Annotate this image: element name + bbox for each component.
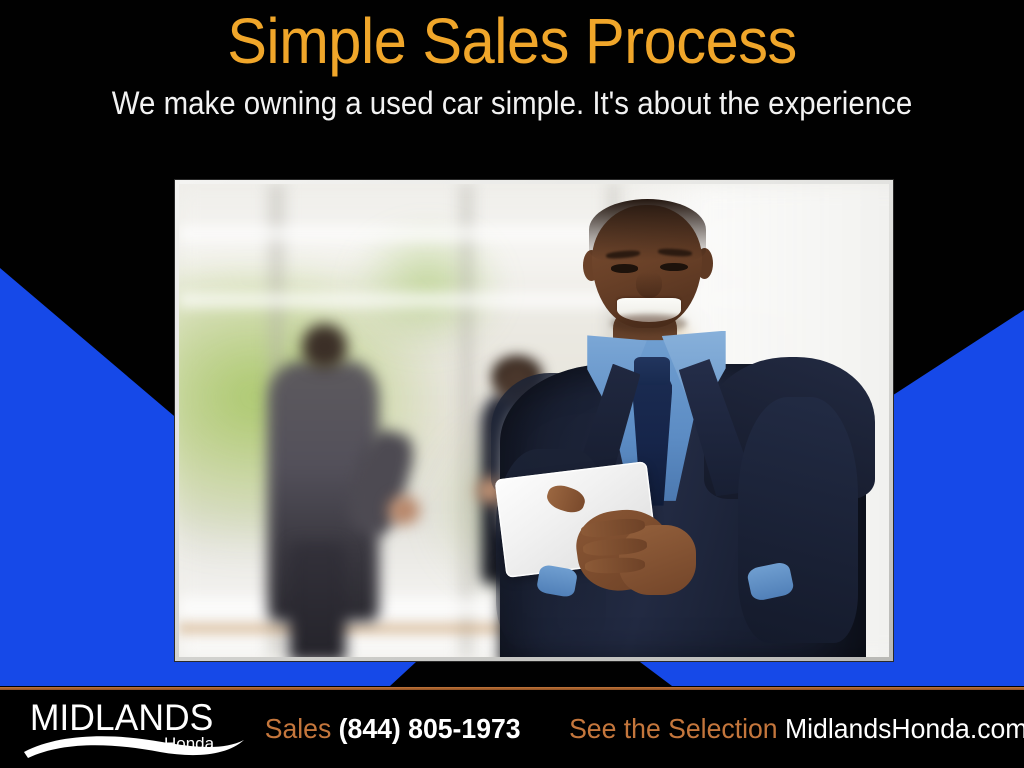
sales-contact[interactable]: Sales (844) 805-1973 [265,712,521,746]
photo-frame [175,180,893,661]
background-person-grey-suit-head [302,324,347,369]
businessman-eye-left [611,264,639,273]
businessman-tie-knot [634,357,670,385]
background-pillar-2 [456,184,477,657]
blue-accent-bottom-band [0,662,1024,686]
selection-website-url[interactable]: MidlandsHonda.com [785,713,1024,744]
foreground-businessman [491,184,889,657]
blue-accent-left [0,268,200,686]
dealership-logo[interactable]: MIDLANDS Honda [22,698,252,760]
header: Simple Sales Process We make owning a us… [0,0,1024,140]
footer-bar: MIDLANDS Honda Sales (844) 805-1973 See … [0,690,1024,768]
hero-photo [179,184,889,657]
background-person-grey-suit-legs [289,543,346,657]
businessman-nose [636,272,662,298]
slide-canvas: Simple Sales Process We make owning a us… [0,0,1024,768]
sales-phone-number[interactable]: (844) 805-1973 [339,713,521,744]
page-title: Simple Sales Process [36,6,988,76]
selection-label: See the Selection [569,713,778,744]
sales-label: Sales [265,713,332,744]
businessman-arm-right [738,397,857,643]
background-person-grey-suit-hand [388,496,420,524]
logo-swoosh-icon [22,726,248,760]
businessman-eye-right [660,263,688,272]
selection-contact[interactable]: See the Selection MidlandsHonda.com [569,712,1024,746]
businessman-chin-shadow [611,314,688,333]
page-subtitle: We make owning a used car simple. It's a… [41,84,983,122]
